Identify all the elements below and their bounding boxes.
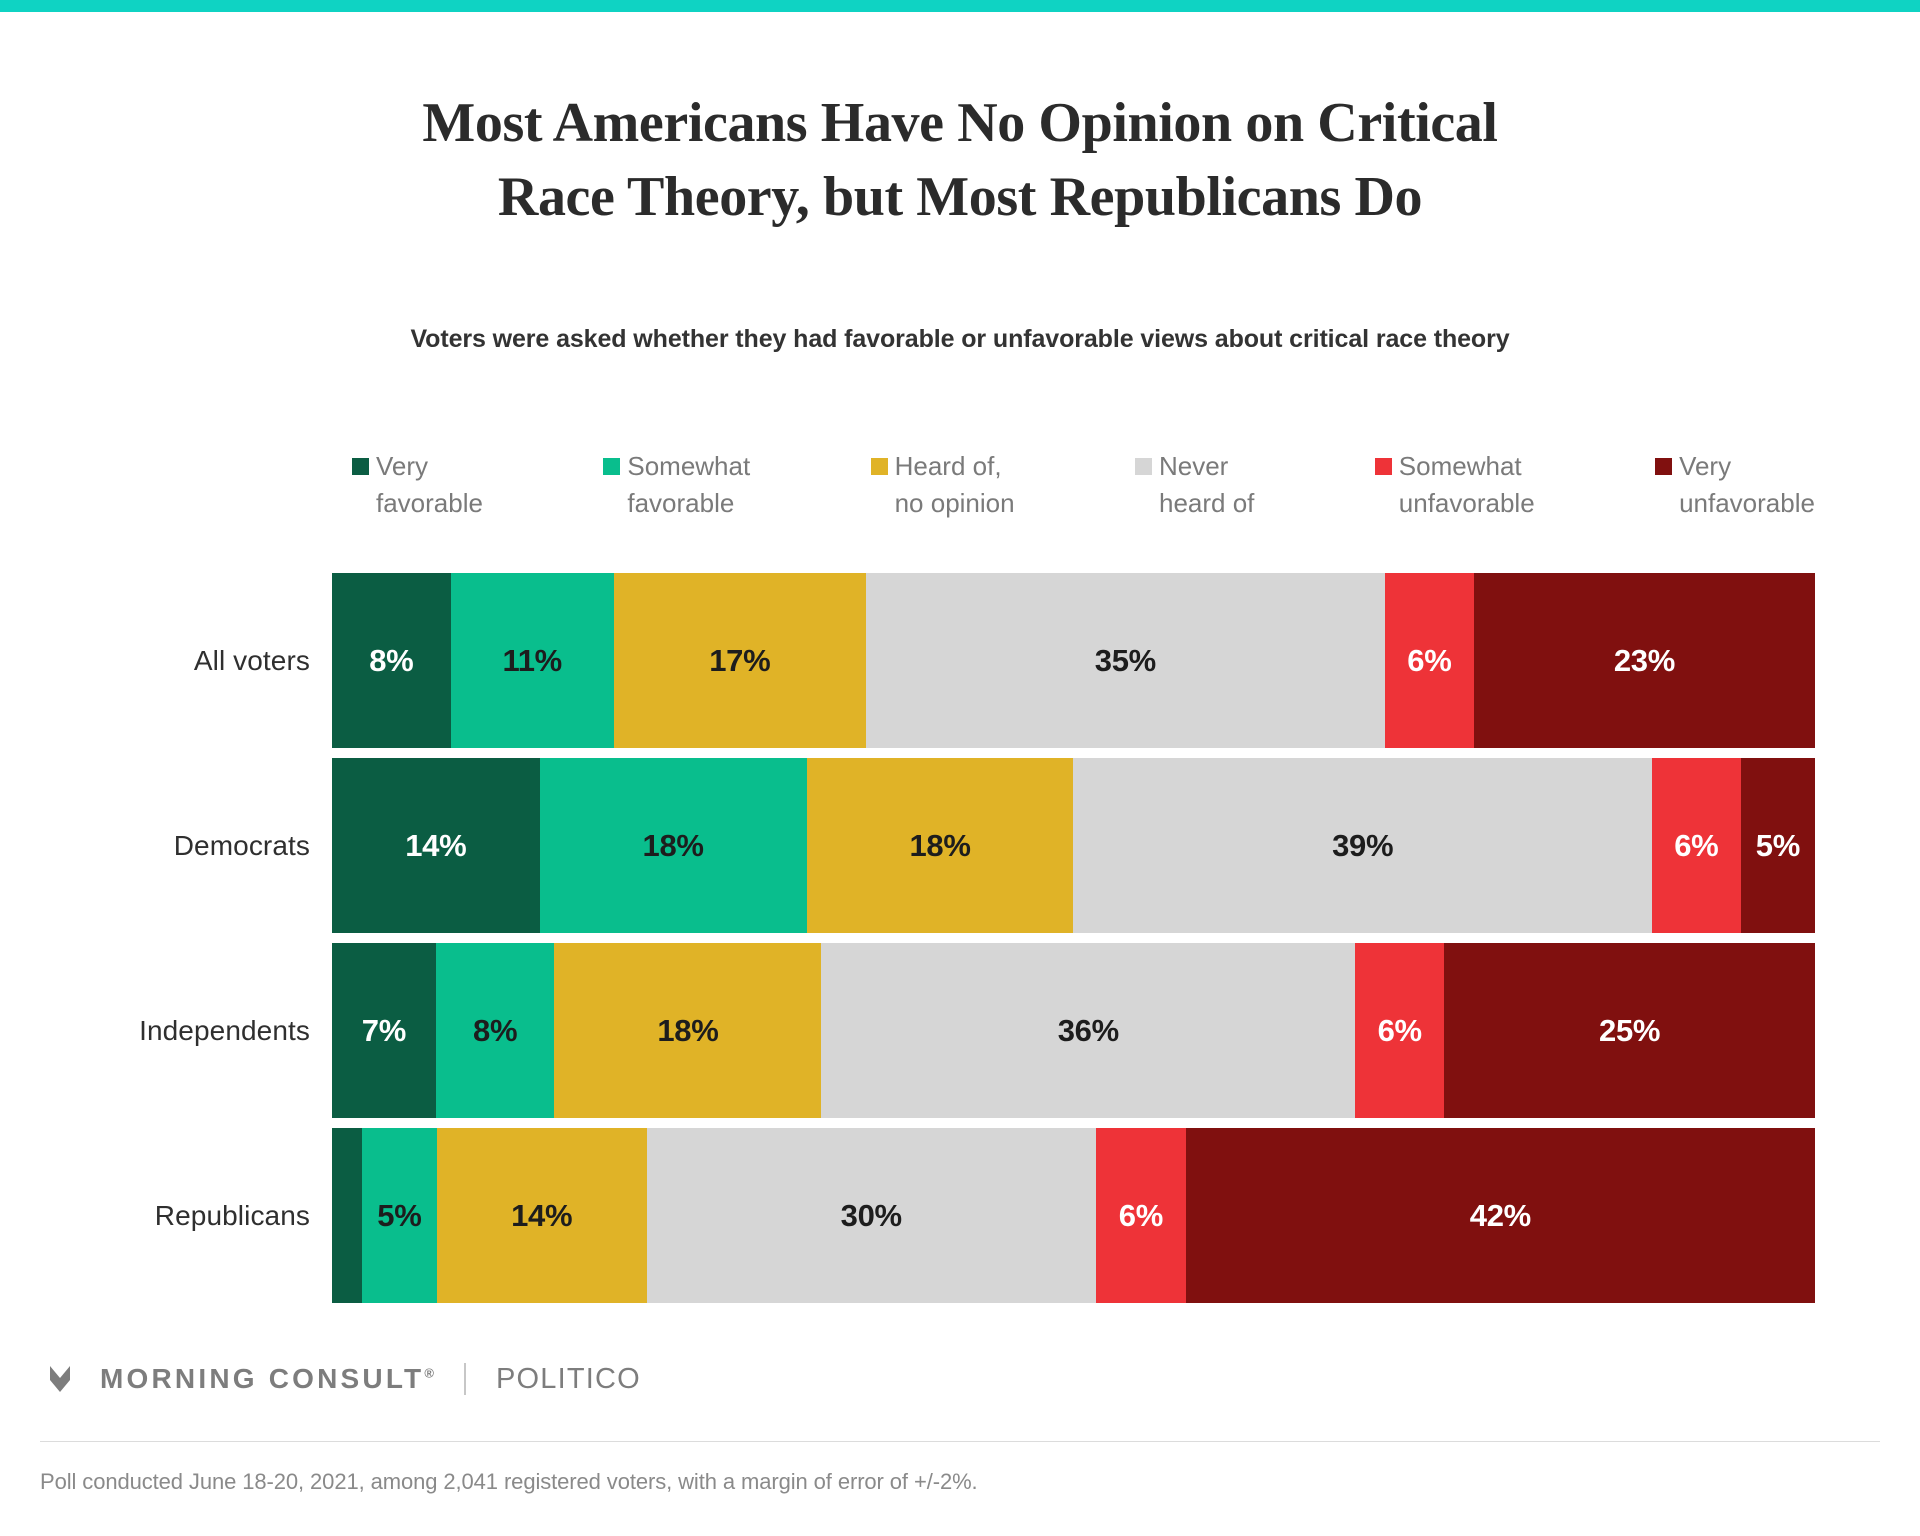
bar-segment-value: 42% — [1470, 1198, 1531, 1234]
bar-segment[interactable]: 5% — [362, 1128, 437, 1303]
bar-segment-value: 6% — [1119, 1198, 1163, 1234]
bar-segment[interactable]: 5% — [1741, 758, 1815, 933]
bar-segment-value: 18% — [909, 828, 970, 864]
bar-segment-value: 36% — [1058, 1013, 1119, 1049]
bar-segment-value: 18% — [657, 1013, 718, 1049]
bar-segment-value: 14% — [405, 828, 466, 864]
bar-segment[interactable]: 17% — [614, 573, 866, 748]
footer-divider — [40, 1441, 1880, 1442]
legend-item-label: Heard of, no opinion — [895, 448, 1015, 522]
legend-item[interactable]: Somewhat favorable — [603, 448, 750, 522]
morning-consult-logo-icon — [40, 1364, 80, 1394]
legend-swatch-icon — [1375, 458, 1392, 475]
legend-item[interactable]: Never heard of — [1135, 448, 1254, 522]
stacked-bar: 14%18%18%39%6%5% — [332, 758, 1815, 933]
bar-segment[interactable]: 30% — [647, 1128, 1096, 1303]
bar-segment[interactable]: 14% — [437, 1128, 647, 1303]
legend-item-label: Very favorable — [376, 448, 483, 522]
bar-segment-value: 25% — [1599, 1013, 1660, 1049]
bar-segment[interactable]: 18% — [554, 943, 821, 1118]
bar-segment-value: 39% — [1332, 828, 1393, 864]
brand-row: MORNING CONSULT® POLITICO — [40, 1355, 1880, 1403]
morning-consult-wordmark: MORNING CONSULT® — [100, 1363, 434, 1395]
chart-page: Most Americans Have No Opinion on Critic… — [0, 0, 1920, 1536]
bar-segment-value: 17% — [709, 643, 770, 679]
legend-item-label: Somewhat favorable — [627, 448, 750, 522]
stacked-bar: 5%14%30%6%42% — [332, 1128, 1815, 1303]
bar-segment-value: 8% — [473, 1013, 517, 1049]
legend-item-label: Very unfavorable — [1679, 448, 1815, 522]
bar-segment[interactable]: 11% — [451, 573, 614, 748]
legend-item-label: Never heard of — [1159, 448, 1254, 522]
bar-segment-value: 6% — [1378, 1013, 1422, 1049]
brand-divider — [464, 1363, 466, 1395]
top-accent-bar — [0, 0, 1920, 12]
bar-segment[interactable]: 14% — [332, 758, 540, 933]
bar-segment[interactable]: 8% — [332, 573, 451, 748]
page-title: Most Americans Have No Opinion on Critic… — [0, 86, 1920, 235]
legend-swatch-icon — [871, 458, 888, 475]
chart-row: Democrats14%18%18%39%6%5% — [0, 758, 1920, 933]
chart-subtitle: Voters were asked whether they had favor… — [0, 325, 1920, 354]
morning-consult-text: MORNING CONSULT — [100, 1363, 424, 1394]
bar-segment-value: 8% — [369, 643, 413, 679]
bar-segment-value: 18% — [643, 828, 704, 864]
methodology-note: Poll conducted June 18-20, 2021, among 2… — [40, 1469, 1880, 1495]
bar-segment-value: 23% — [1614, 643, 1675, 679]
registered-trademark-icon: ® — [424, 1366, 434, 1381]
bar-segment[interactable]: 7% — [332, 943, 436, 1118]
bar-segment[interactable]: 35% — [866, 573, 1385, 748]
bar-segment-value: 5% — [1756, 828, 1800, 864]
bar-segment-value: 6% — [1674, 828, 1718, 864]
bar-segment[interactable] — [332, 1128, 362, 1303]
bar-segment-value: 35% — [1095, 643, 1156, 679]
chart-row: Republicans5%14%30%6%42% — [0, 1128, 1920, 1303]
chart-row-label: Independents — [0, 1015, 332, 1047]
legend-item[interactable]: Heard of, no opinion — [871, 448, 1015, 522]
chart-row-label: All voters — [0, 645, 332, 677]
legend-swatch-icon — [1135, 458, 1152, 475]
chart-row-label: Republicans — [0, 1200, 332, 1232]
legend-item[interactable]: Very unfavorable — [1655, 448, 1815, 522]
legend-swatch-icon — [603, 458, 620, 475]
stacked-bar-chart: All voters8%11%17%35%6%23%Democrats14%18… — [0, 573, 1920, 1313]
chart-row: All voters8%11%17%35%6%23% — [0, 573, 1920, 748]
bar-segment-value: 11% — [502, 643, 561, 679]
bar-segment-value: 7% — [362, 1013, 406, 1049]
bar-segment-value: 30% — [841, 1198, 902, 1234]
chart-footer: MORNING CONSULT® POLITICO Poll conducted… — [40, 1355, 1880, 1495]
stacked-bar: 7%8%18%36%6%25% — [332, 943, 1815, 1118]
chart-legend: Very favorableSomewhat favorableHeard of… — [352, 448, 1815, 522]
bar-segment[interactable]: 6% — [1096, 1128, 1186, 1303]
bar-segment[interactable]: 23% — [1474, 573, 1815, 748]
chart-row: Independents7%8%18%36%6%25% — [0, 943, 1920, 1118]
chart-row-label: Democrats — [0, 830, 332, 862]
bar-segment[interactable]: 6% — [1385, 573, 1474, 748]
bar-segment[interactable]: 25% — [1444, 943, 1815, 1118]
legend-swatch-icon — [352, 458, 369, 475]
stacked-bar: 8%11%17%35%6%23% — [332, 573, 1815, 748]
bar-segment[interactable]: 36% — [821, 943, 1355, 1118]
bar-segment[interactable]: 42% — [1186, 1128, 1815, 1303]
legend-item-label: Somewhat unfavorable — [1399, 448, 1535, 522]
bar-segment[interactable]: 6% — [1355, 943, 1444, 1118]
bar-segment[interactable]: 8% — [436, 943, 555, 1118]
legend-swatch-icon — [1655, 458, 1672, 475]
politico-wordmark: POLITICO — [496, 1363, 641, 1396]
bar-segment-value: 14% — [511, 1198, 572, 1234]
legend-item[interactable]: Very favorable — [352, 448, 483, 522]
bar-segment-value: 5% — [377, 1198, 421, 1234]
bar-segment[interactable]: 6% — [1652, 758, 1741, 933]
bar-segment[interactable]: 18% — [540, 758, 807, 933]
bar-segment[interactable]: 18% — [807, 758, 1074, 933]
bar-segment-value: 6% — [1407, 643, 1451, 679]
bar-segment[interactable]: 39% — [1073, 758, 1651, 933]
legend-item[interactable]: Somewhat unfavorable — [1375, 448, 1535, 522]
